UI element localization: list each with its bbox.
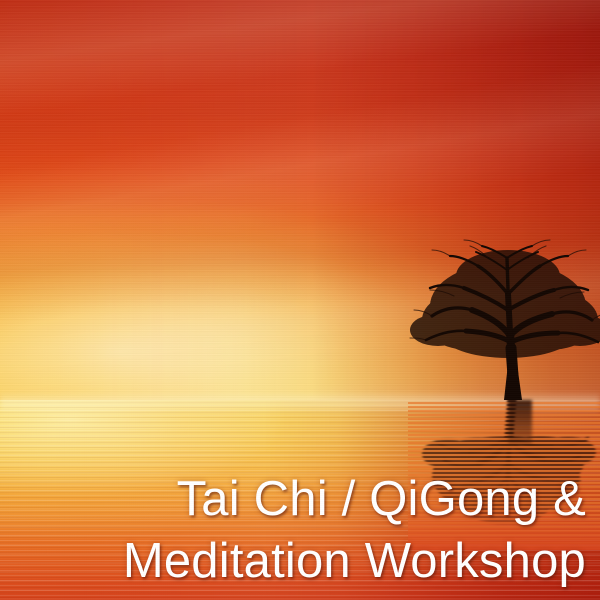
title-line-2: Meditation Workshop <box>123 530 586 592</box>
poster-title: Tai Chi / QiGong & Meditation Workshop <box>123 468 586 592</box>
tree-silhouette <box>408 224 600 400</box>
poster-image: Tai Chi / QiGong & Meditation Workshop <box>0 0 600 600</box>
title-line-1: Tai Chi / QiGong & <box>123 468 586 530</box>
trunk-reflection-column <box>508 400 532 444</box>
